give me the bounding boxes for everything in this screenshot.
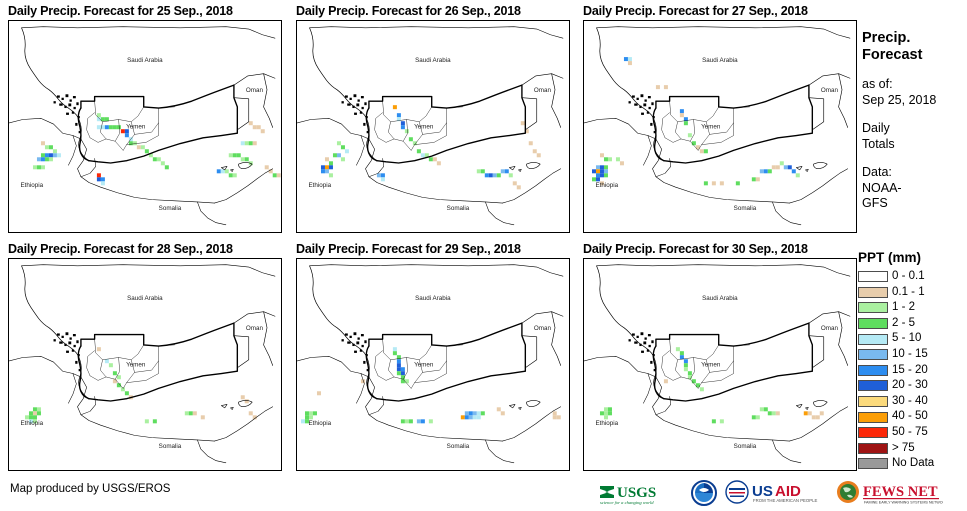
data-source-label: Data: [862,165,967,181]
legend-swatch [858,365,888,376]
legend-swatch [858,443,888,454]
data-source-line1: NOAA- [862,181,967,197]
forecast-panel-4: Daily Precip. Forecast for 28 Sep., 2018 [8,242,233,256]
svg-text:Saudi Arabia: Saudi Arabia [127,57,163,64]
data-source-block: Data: NOAA- GFS [862,165,967,212]
ppt-legend: PPT (mm) 0 - 0.10.1 - 11 - 22 - 55 - 101… [858,250,967,472]
map-credit: Map produced by USGS/EROS [10,483,170,495]
precip-raster [301,347,561,423]
legend-swatch [858,334,888,345]
svg-text:Somalia: Somalia [734,443,757,450]
svg-text:Ethiopia: Ethiopia [309,420,332,427]
svg-text:Saudi Arabia: Saudi Arabia [127,295,163,302]
svg-text:USGS: USGS [617,485,656,501]
side-title-line1: Precip. [862,30,967,47]
totals-line2: Totals [862,137,967,153]
info-side-panel: Precip. Forecast as of: Sep 25, 2018 Dai… [862,0,967,245]
svg-text:Ethiopia: Ethiopia [21,182,44,189]
legend-item: 5 - 10 [858,331,967,347]
svg-text:FROM THE AMERICAN PEOPLE: FROM THE AMERICAN PEOPLE [753,498,818,503]
svg-text:Ethiopia: Ethiopia [309,182,332,189]
legend-label: 40 - 50 [892,411,928,423]
legend-label: 1 - 2 [892,302,915,314]
panel-title: Daily Precip. Forecast for 26 Sep., 2018 [296,4,521,18]
legend-swatch [858,458,888,469]
legend-swatch [858,271,888,282]
map-canvas-3[interactable]: Saudi ArabiaOmanYemenEthiopiaSomalia [583,20,857,233]
usaid-logo: US AID FROM THE AMERICAN PEOPLE [724,480,828,506]
svg-text:Somalia: Somalia [159,205,182,212]
legend-item: > 75 [858,441,967,457]
svg-text:Oman: Oman [821,325,839,332]
map-canvas-1[interactable]: Saudi ArabiaOmanYemenEthiopiaSomalia [8,20,282,233]
svg-text:Ethiopia: Ethiopia [596,182,619,189]
svg-text:Ethiopia: Ethiopia [596,420,619,427]
as-of-date: Sep 25, 2018 [862,93,967,109]
totals-block: Daily Totals [862,121,967,152]
legend-swatch [858,412,888,423]
svg-text:Oman: Oman [821,87,839,94]
svg-text:Yemen: Yemen [126,362,146,369]
svg-text:Oman: Oman [246,87,264,94]
map-canvas-2[interactable]: Saudi ArabiaOmanYemenEthiopiaSomalia [296,20,570,233]
totals-line1: Daily [862,121,967,137]
as-of-block: as of: Sep 25, 2018 [862,77,967,108]
svg-text:Saudi Arabia: Saudi Arabia [702,295,738,302]
svg-text:Yemen: Yemen [701,124,721,131]
legend-swatch [858,427,888,438]
precip-raster [592,57,800,185]
svg-text:Somalia: Somalia [159,443,182,450]
legend-rows: 0 - 0.10.1 - 11 - 22 - 55 - 1010 - 1515 … [858,269,967,472]
forecast-panel-1: Daily Precip. Forecast for 25 Sep., 2018 [8,4,233,18]
legend-label: 0 - 0.1 [892,271,925,283]
svg-text:Ethiopia: Ethiopia [21,420,44,427]
svg-text:Somalia: Somalia [447,443,470,450]
panel-title: Daily Precip. Forecast for 30 Sep., 2018 [583,242,808,256]
legend-label: 0.1 - 1 [892,287,925,299]
fewsnet-logo: FEWS NET FAMINE EARLY WARNING SYSTEMS NE… [835,480,943,506]
legend-swatch [858,318,888,329]
svg-text:Oman: Oman [246,325,264,332]
legend-swatch [858,349,888,360]
svg-text:Oman: Oman [534,87,552,94]
legend-label: 50 - 75 [892,427,928,439]
panel-title: Daily Precip. Forecast for 28 Sep., 2018 [8,242,233,256]
legend-label: 30 - 40 [892,396,928,408]
noaa-logo [691,480,717,506]
svg-text:FAMINE EARLY WARNING SYSTEMS N: FAMINE EARLY WARNING SYSTEMS NETWORK [864,501,943,505]
svg-text:Saudi Arabia: Saudi Arabia [702,57,738,64]
legend-item: No Data [858,456,967,472]
side-title-line2: Forecast [862,47,967,64]
data-source-line2: GFS [862,196,967,212]
svg-text:Somalia: Somalia [447,205,470,212]
legend-item: 1 - 2 [858,300,967,316]
legend-label: 20 - 30 [892,380,928,392]
legend-item: 30 - 40 [858,394,967,410]
svg-text:Yemen: Yemen [701,362,721,369]
svg-text:science for a changing world: science for a changing world [600,500,654,505]
legend-item: 2 - 5 [858,316,967,332]
map-canvas-5[interactable]: Saudi ArabiaOmanYemenEthiopiaSomalia [296,258,570,471]
agency-logos: USGS science for a changing world US AID… [598,479,943,507]
legend-title: PPT (mm) [858,250,967,265]
legend-item: 40 - 50 [858,409,967,425]
legend-item: 20 - 30 [858,378,967,394]
svg-text:Yemen: Yemen [414,124,434,131]
svg-text:FEWS NET: FEWS NET [863,484,938,500]
svg-text:Yemen: Yemen [126,124,146,131]
legend-label: 15 - 20 [892,365,928,377]
forecast-panel-6: Daily Precip. Forecast for 30 Sep., 2018 [583,242,808,256]
map-canvas-6[interactable]: Saudi ArabiaOmanYemenEthiopiaSomalia [583,258,857,471]
svg-text:Somalia: Somalia [734,205,757,212]
legend-item: 50 - 75 [858,425,967,441]
legend-label: > 75 [892,443,915,455]
legend-label: 5 - 10 [892,333,921,345]
panel-title: Daily Precip. Forecast for 27 Sep., 2018 [583,4,808,18]
legend-item: 10 - 15 [858,347,967,363]
svg-text:Yemen: Yemen [414,362,434,369]
svg-text:Saudi Arabia: Saudi Arabia [415,57,451,64]
precip-raster [33,113,281,185]
forecast-panel-3: Daily Precip. Forecast for 27 Sep., 2018 [583,4,808,18]
legend-swatch [858,380,888,391]
legend-item: 0 - 0.1 [858,269,967,285]
svg-text:Oman: Oman [534,325,552,332]
panel-title: Daily Precip. Forecast for 25 Sep., 2018 [8,4,233,18]
precip-raster [321,105,541,189]
svg-text:Saudi Arabia: Saudi Arabia [415,295,451,302]
legend-swatch [858,396,888,407]
precip-raster [25,347,257,423]
legend-swatch [858,302,888,313]
legend-swatch [858,287,888,298]
legend-label: No Data [892,458,934,470]
forecast-panel-5: Daily Precip. Forecast for 29 Sep., 2018 [296,242,521,256]
panel-title: Daily Precip. Forecast for 29 Sep., 2018 [296,242,521,256]
forecast-panel-2: Daily Precip. Forecast for 26 Sep., 2018 [296,4,521,18]
as-of-label: as of: [862,77,967,93]
usgs-logo: USGS science for a changing world [598,480,684,506]
legend-label: 2 - 5 [892,318,915,330]
legend-item: 0.1 - 1 [858,285,967,301]
legend-label: 10 - 15 [892,349,928,361]
precip-raster [600,347,824,423]
map-canvas-4[interactable]: Saudi ArabiaOmanYemenEthiopiaSomalia [8,258,282,471]
legend-item: 15 - 20 [858,363,967,379]
